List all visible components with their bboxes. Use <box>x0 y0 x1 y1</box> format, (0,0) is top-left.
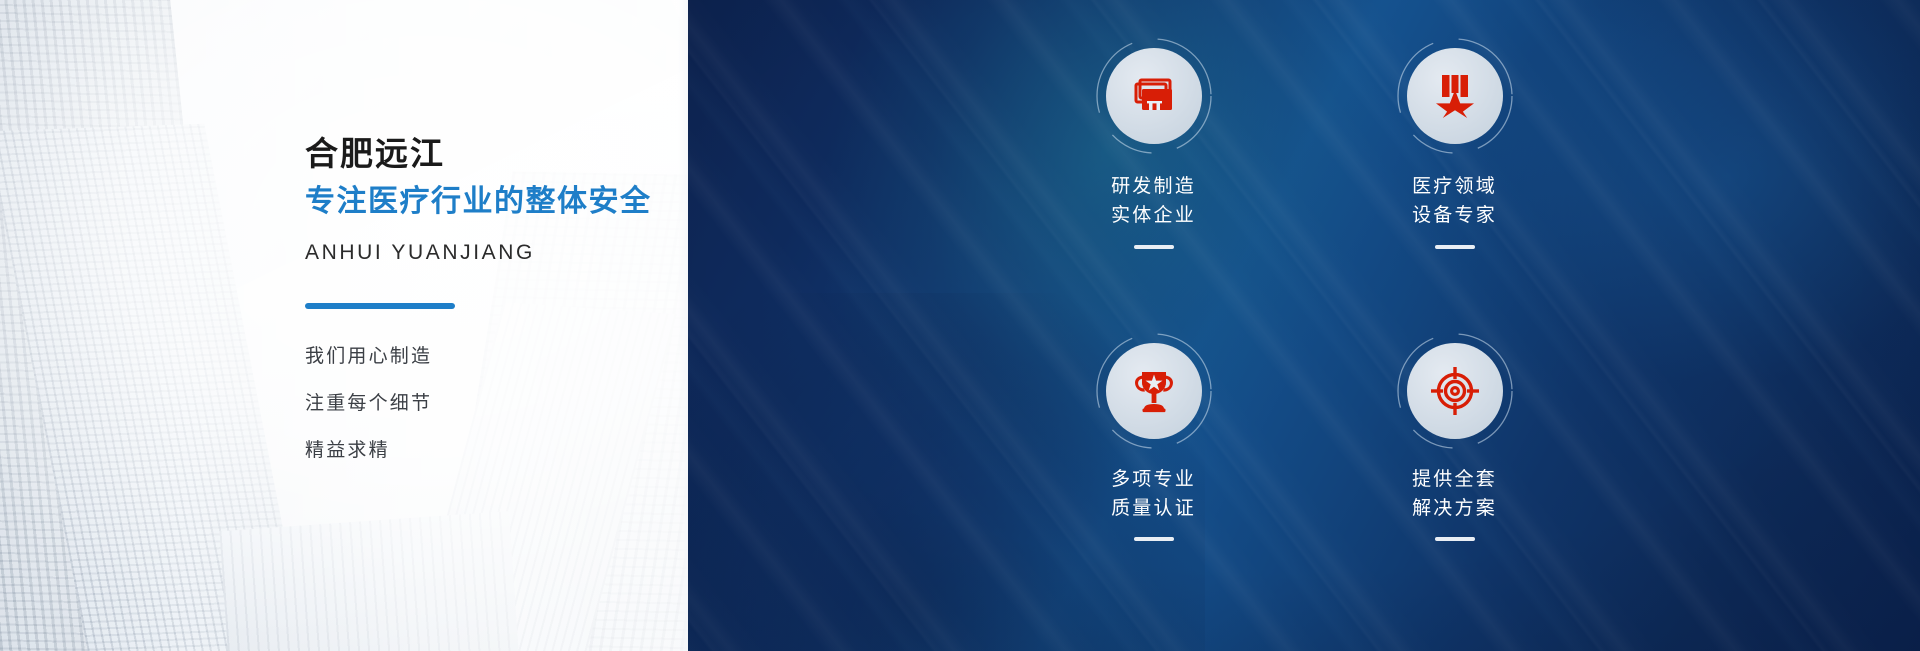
slogan-list: 我们用心制造 注重每个细节 精益求精 <box>305 347 675 460</box>
feature-label: 提供全套 解决方案 <box>1412 465 1497 524</box>
tagline-heading: 专注医疗行业的整体安全 <box>305 182 675 221</box>
feature-label-line1: 多项专业 <box>1111 469 1196 490</box>
feature-label: 医疗领域 设备专家 <box>1412 172 1497 231</box>
feature-item-quality-certified[interactable]: 多项专业 质量认证 <box>1018 335 1289 622</box>
feature-label-line2: 质量认证 <box>1111 498 1196 519</box>
panel-edge-seam <box>678 0 688 651</box>
company-name-pinyin: ANHUI YUANJIANG <box>305 241 675 265</box>
feature-icon-wrap <box>1407 343 1503 439</box>
left-hero-panel: 合肥远江 专注医疗行业的整体安全 ANHUI YUANJIANG 我们用心制造 … <box>0 0 688 651</box>
factory-icon <box>1106 48 1202 144</box>
company-name-heading: 合肥远江 <box>305 133 675 175</box>
feature-underline <box>1134 537 1174 541</box>
feature-grid: 研发制造 实体企业 <box>688 0 1920 651</box>
feature-underline <box>1134 245 1174 249</box>
feature-label-line1: 研发制造 <box>1111 176 1196 197</box>
feature-item-full-solution[interactable]: 提供全套 解决方案 <box>1319 335 1590 622</box>
right-feature-panel: 研发制造 实体企业 <box>688 0 1920 651</box>
feature-label: 多项专业 质量认证 <box>1111 465 1196 524</box>
feature-icon-wrap <box>1407 48 1503 144</box>
feature-label-line2: 解决方案 <box>1412 498 1497 519</box>
feature-item-rd-manufacturing[interactable]: 研发制造 实体企业 <box>1018 48 1289 335</box>
feature-underline <box>1435 537 1475 541</box>
feature-label-line1: 医疗领域 <box>1412 176 1497 197</box>
slogan-line: 注重每个细节 <box>305 394 675 413</box>
feature-label: 研发制造 实体企业 <box>1111 172 1196 231</box>
accent-divider <box>305 303 455 309</box>
slogan-line: 精益求精 <box>305 441 675 460</box>
hero-text-block: 合肥远江 专注医疗行业的整体安全 ANHUI YUANJIANG 我们用心制造 … <box>305 133 675 460</box>
feature-label-line2: 实体企业 <box>1111 205 1196 226</box>
feature-label-line2: 设备专家 <box>1412 205 1497 226</box>
trophy-icon <box>1106 343 1202 439</box>
medal-icon <box>1407 48 1503 144</box>
slogan-line: 我们用心制造 <box>305 347 675 366</box>
hero-banner: 合肥远江 专注医疗行业的整体安全 ANHUI YUANJIANG 我们用心制造 … <box>0 0 1920 651</box>
target-icon <box>1407 343 1503 439</box>
feature-icon-wrap <box>1106 48 1202 144</box>
feature-icon-wrap <box>1106 343 1202 439</box>
feature-label-line1: 提供全套 <box>1412 469 1497 490</box>
feature-item-medical-expert[interactable]: 医疗领域 设备专家 <box>1319 48 1590 335</box>
feature-underline <box>1435 245 1475 249</box>
